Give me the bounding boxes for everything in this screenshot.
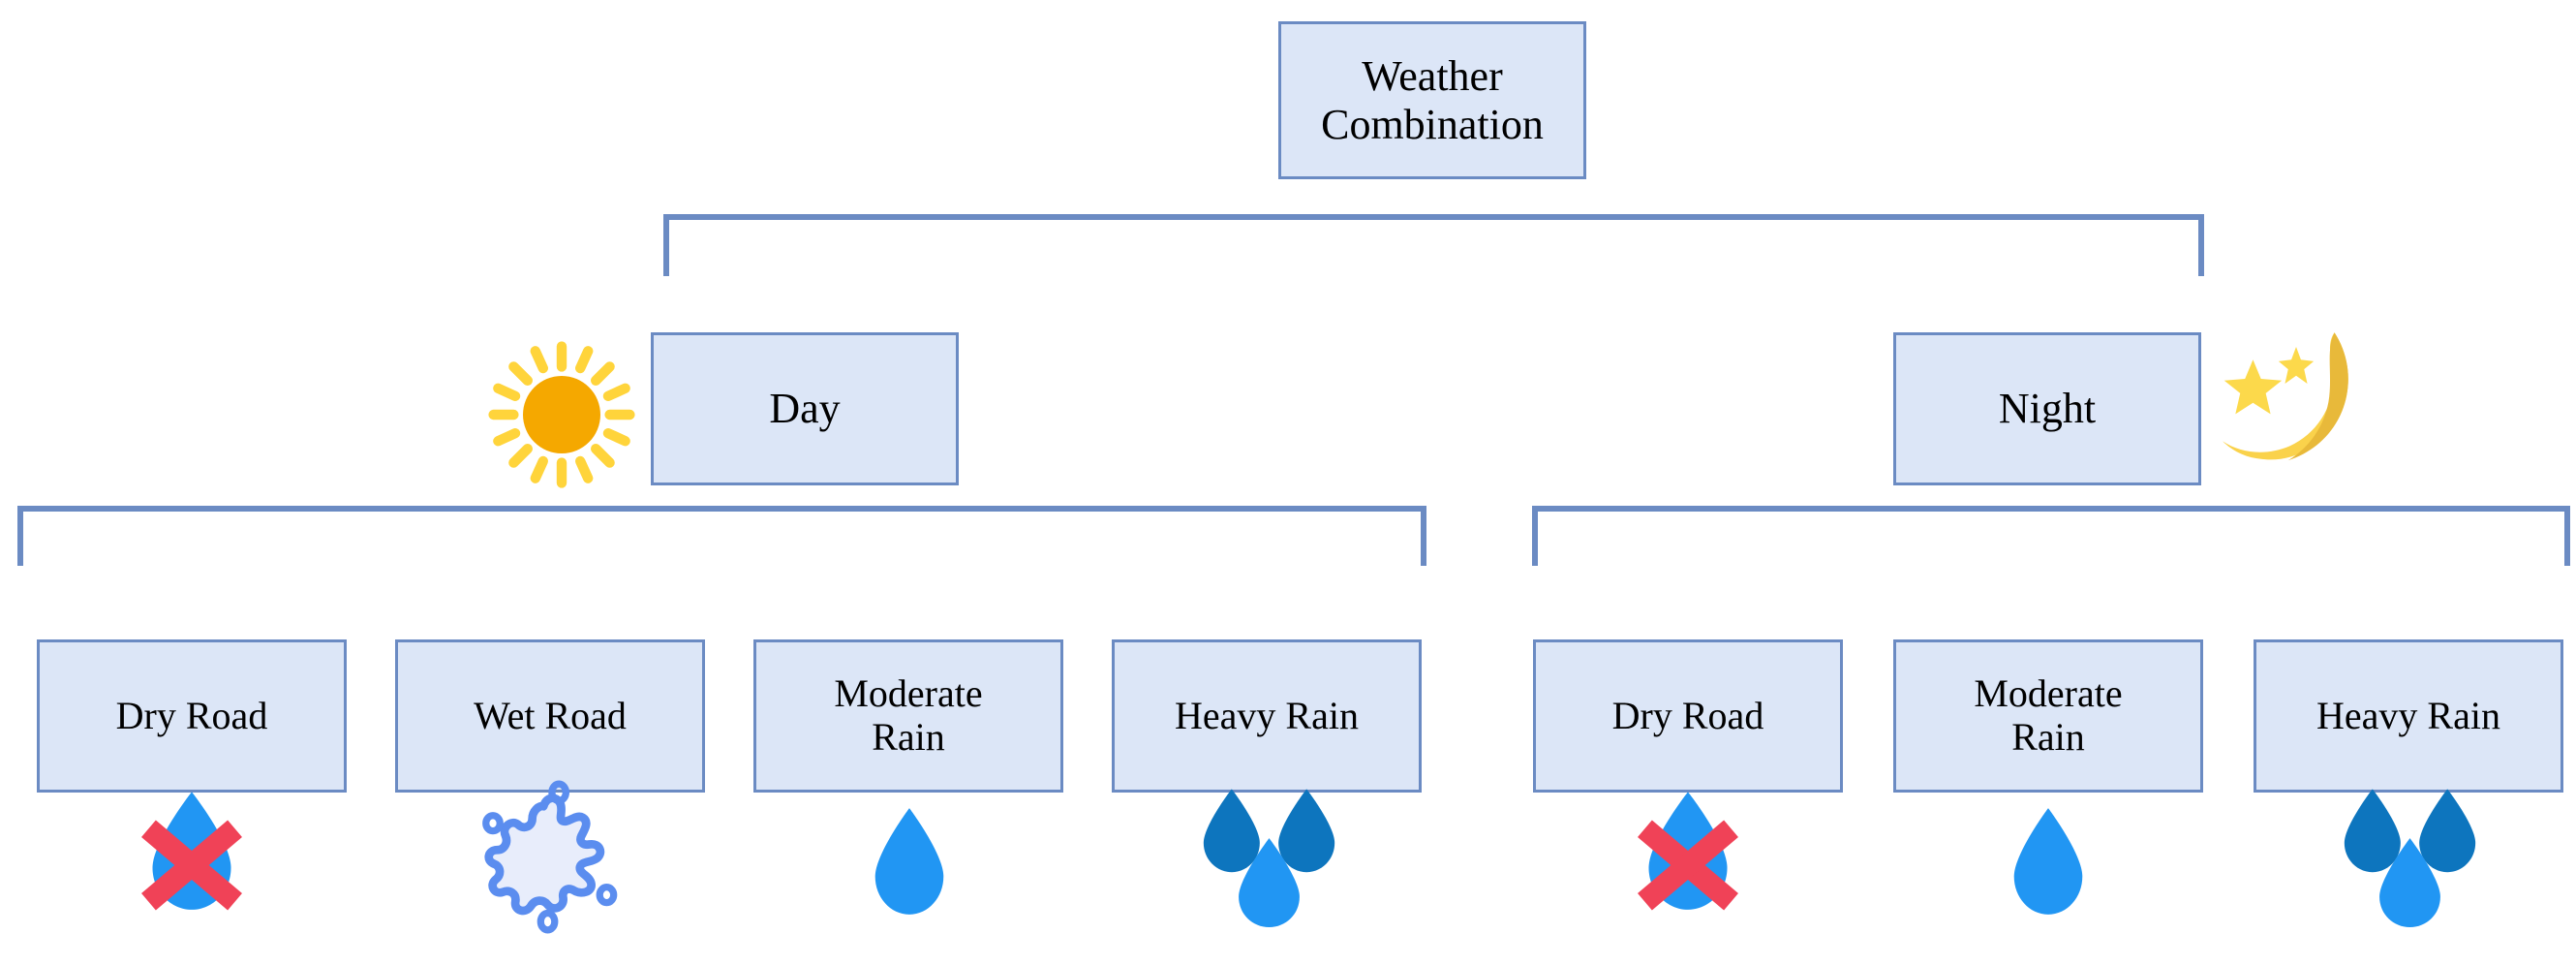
node-night-dry-road[interactable]: Dry Road [1533,639,1843,793]
node-day[interactable]: Day [651,332,959,485]
node-day-moderate-rain[interactable]: Moderate Rain [753,639,1063,793]
connector-night-left-drop [1532,506,1538,566]
sun-icon [484,337,639,492]
connector-day-horizontal [17,506,1426,512]
node-day-heavy-rain[interactable]: Heavy Rain [1112,639,1422,793]
node-weather-combination[interactable]: Weather Combination [1278,21,1586,179]
no-water-drop-icon [1620,787,1756,918]
single-raindrop-icon [2001,804,2096,918]
triple-raindrop-icon [2340,787,2480,927]
triple-raindrop-icon [1199,787,1339,927]
connector-root-to-day [663,214,669,276]
water-splash-icon [476,787,622,927]
connector-day-right-drop [1421,506,1426,566]
node-night-heavy-rain[interactable]: Heavy Rain [2254,639,2563,793]
connector-day-left-drop [17,506,23,566]
connector-root-horizontal [663,214,2204,220]
no-water-drop-icon [124,787,260,918]
connector-night-right-drop [2564,506,2570,566]
node-day-dry-road[interactable]: Dry Road [37,639,347,793]
node-day-wet-road[interactable]: Wet Road [395,639,705,793]
node-night-moderate-rain[interactable]: Moderate Rain [1893,639,2203,793]
connector-night-horizontal [1532,506,2570,512]
single-raindrop-icon [862,804,957,918]
connector-root-to-night [2198,214,2204,276]
node-night[interactable]: Night [1893,332,2201,485]
moon-stars-icon [2200,320,2360,480]
diagram-canvas: Weather Combination [0,0,2576,965]
